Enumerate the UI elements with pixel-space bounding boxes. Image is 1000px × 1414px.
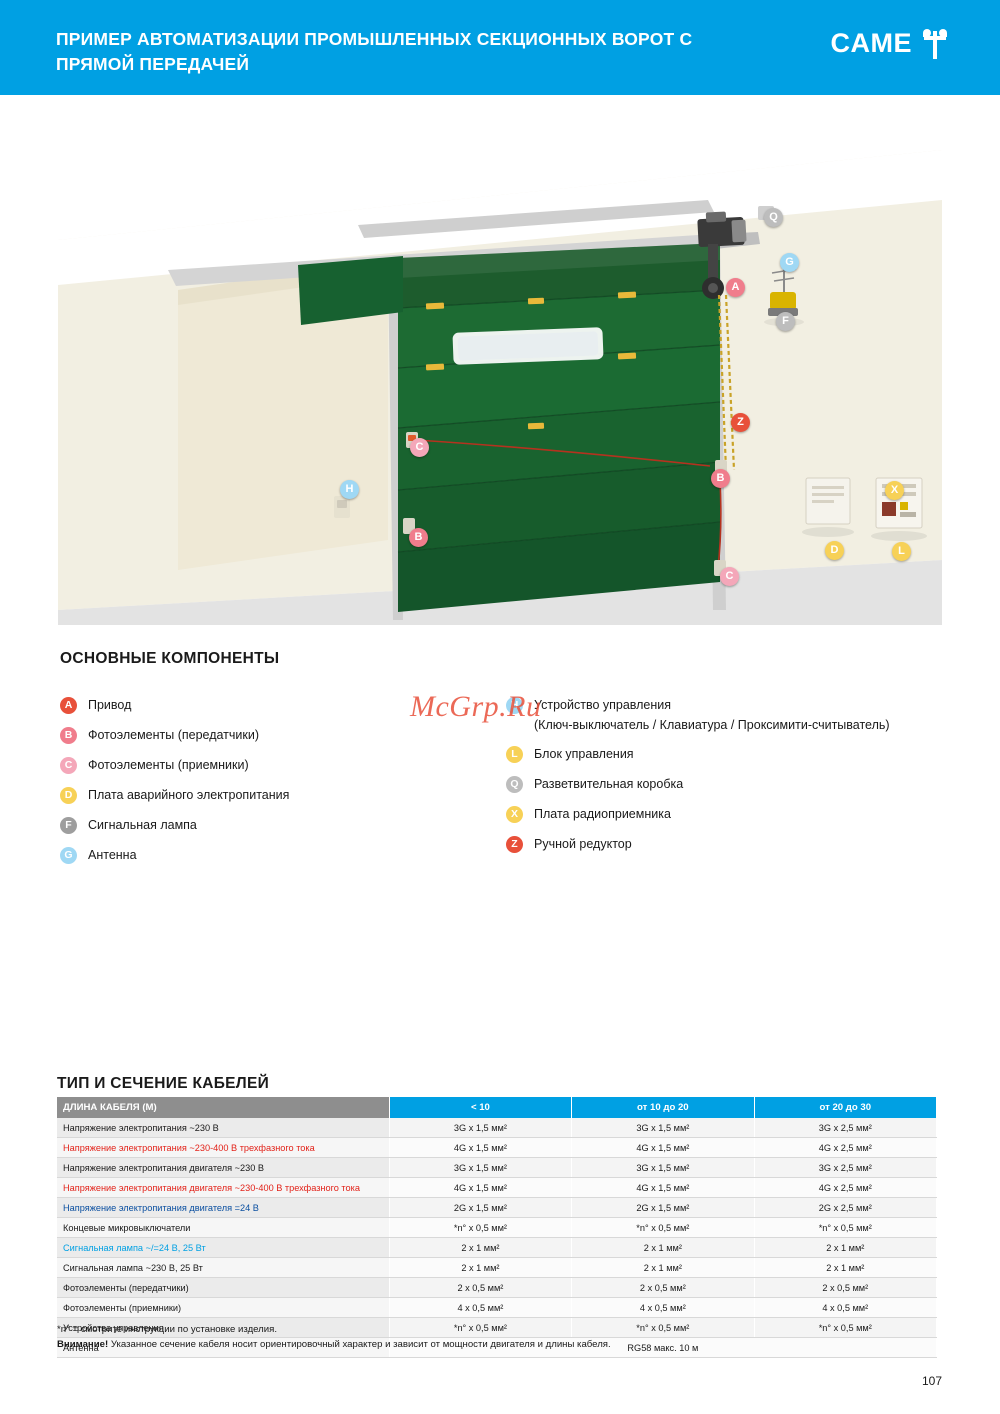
col-header-20-30: от 20 до 30 <box>754 1097 936 1118</box>
legend-badge-g: G <box>60 847 77 864</box>
illustration-marker-b2: B <box>409 528 428 547</box>
page-title: ПРИМЕР АВТОМАТИЗАЦИИ ПРОМЫШЛЕННЫХ СЕКЦИО… <box>56 27 756 77</box>
cables-title: ТИП И СЕЧЕНИЕ КАБЕЛЕЙ <box>57 1075 269 1093</box>
warning-label: Внимание! <box>57 1339 108 1350</box>
row-value: 3G x 2,5 мм² <box>754 1158 936 1178</box>
legend-badge-z: Z <box>506 836 523 853</box>
row-value: 4 x 0,5 мм² <box>389 1298 571 1318</box>
row-value: 2 x 0,5 мм² <box>754 1278 936 1298</box>
row-label: Напряжение электропитания двигателя ~230… <box>57 1158 389 1178</box>
row-label: Фотоэлементы (передатчики) <box>57 1278 389 1298</box>
table-row: Напряжение электропитания двигателя =24 … <box>57 1198 937 1218</box>
row-value: *n° x 0,5 мм² <box>389 1218 571 1238</box>
legend-item: X Плата радиоприемника <box>506 806 956 823</box>
row-label: Напряжение электропитания ~230-400 В тре… <box>57 1138 389 1158</box>
legend-label: Фотоэлементы (приемники) <box>88 757 490 773</box>
table-row: Напряжение электропитания ~230-400 В тре… <box>57 1138 937 1158</box>
row-value: 3G x 1,5 мм² <box>572 1118 754 1138</box>
row-value: 4G x 2,5 мм² <box>754 1178 936 1198</box>
table-header-row: ДЛИНА КАБЕЛЯ (м) < 10 от 10 до 20 от 20 … <box>57 1097 937 1118</box>
legend-badge-q: Q <box>506 776 523 793</box>
legend-label: Плата радиоприемника <box>534 806 956 822</box>
legend-label: Плата аварийного электропитания <box>88 787 490 803</box>
row-label: Напряжение электропитания ~230 В <box>57 1118 389 1138</box>
legend-item: D Плата аварийного электропитания <box>60 787 490 804</box>
table-row: Фотоэлементы (приемники) 4 x 0,5 мм² 4 x… <box>57 1298 937 1318</box>
illustration-marker-d: D <box>825 541 844 560</box>
illustration-marker-h: H <box>340 480 359 499</box>
table-note-warning: Внимание! Указанное сечение кабеля носит… <box>57 1337 937 1352</box>
legend-badge-f: F <box>60 817 77 834</box>
legend-item: G Антенна <box>60 847 490 864</box>
row-value: 2 x 1 мм² <box>754 1238 936 1258</box>
col-header-10-20: от 10 до 20 <box>572 1097 754 1118</box>
illustration-marker-f: F <box>776 312 795 331</box>
brand-logo: CAME <box>831 28 949 59</box>
row-value: 3G x 1,5 мм² <box>389 1118 571 1138</box>
illustration-marker-l: L <box>892 542 911 561</box>
illustration-svg <box>58 140 942 625</box>
table-row: Сигнальная лампа ~/=24 В, 25 Вт 2 x 1 мм… <box>57 1238 937 1258</box>
row-value: 2 x 1 мм² <box>572 1238 754 1258</box>
table-notes: *n° = смотрите инструкции по установке и… <box>57 1322 937 1352</box>
row-value: 3G x 1,5 мм² <box>389 1158 571 1178</box>
legend-badge-d: D <box>60 787 77 804</box>
table-row: Напряжение электропитания ~230 В 3G x 1,… <box>57 1118 937 1138</box>
table-row: Сигнальная лампа ~230 В, 25 Вт 2 x 1 мм²… <box>57 1258 937 1278</box>
table-row: Фотоэлементы (передатчики) 2 x 0,5 мм² 2… <box>57 1278 937 1298</box>
row-value: 2 x 1 мм² <box>754 1258 936 1278</box>
illustration-marker-x: X <box>885 481 904 500</box>
row-value: 2 x 0,5 мм² <box>572 1278 754 1298</box>
row-value: 3G x 1,5 мм² <box>572 1158 754 1178</box>
legend-item: B Фотоэлементы (передатчики) <box>60 727 490 744</box>
row-value: 2 x 0,5 мм² <box>389 1278 571 1298</box>
page-header: ПРИМЕР АВТОМАТИЗАЦИИ ПРОМЫШЛЕННЫХ СЕКЦИО… <box>0 0 1000 95</box>
legend-item: L Блок управления <box>506 746 956 763</box>
legend-badge-a: A <box>60 697 77 714</box>
row-label: Фотоэлементы (приемники) <box>57 1298 389 1318</box>
row-value: 2G x 2,5 мм² <box>754 1198 936 1218</box>
row-value: *n° x 0,5 мм² <box>754 1218 936 1238</box>
installation-illustration: Q G A F Z C B H X B D L C <box>58 140 942 625</box>
legend-badge-l: L <box>506 746 523 763</box>
row-value: 4G x 1,5 мм² <box>389 1138 571 1158</box>
legend-label: Разветвительная коробка <box>534 776 956 792</box>
illustration-marker-q: Q <box>764 208 783 227</box>
watermark: McGrp.Ru <box>410 690 541 724</box>
legend-item: Z Ручной редуктор <box>506 836 956 853</box>
row-value: 2G x 1,5 мм² <box>572 1198 754 1218</box>
row-value: 2 x 1 мм² <box>389 1258 571 1278</box>
row-label: Напряжение электропитания двигателя ~230… <box>57 1178 389 1198</box>
row-value: 4G x 1,5 мм² <box>389 1178 571 1198</box>
illustration-marker-c2: C <box>720 567 739 586</box>
illustration-marker-g: G <box>780 253 799 272</box>
row-value: 4G x 1,5 мм² <box>572 1178 754 1198</box>
col-header-lt10: < 10 <box>389 1097 571 1118</box>
legend-sublabel: (Ключ-выключатель / Клавиатура / Проксим… <box>534 717 956 733</box>
components-legend-right: H Устройство управления (Ключ-выключател… <box>506 697 956 866</box>
row-value: 4G x 1,5 мм² <box>572 1138 754 1158</box>
legend-badge-c: C <box>60 757 77 774</box>
col-header-length: ДЛИНА КАБЕЛЯ (м) <box>57 1097 389 1118</box>
row-value: *n° x 0,5 мм² <box>572 1218 754 1238</box>
warning-text: Указанное сечение кабеля носит ориентиро… <box>108 1339 611 1350</box>
legend-badge-b: B <box>60 727 77 744</box>
legend-badge-x: X <box>506 806 523 823</box>
illustration-marker-a: A <box>726 278 745 297</box>
table-note-asterisk: *n° = смотрите инструкции по установке и… <box>57 1322 937 1337</box>
row-value: 4G x 2,5 мм² <box>754 1138 936 1158</box>
row-value: 2 x 1 мм² <box>572 1258 754 1278</box>
row-value: 4 x 0,5 мм² <box>572 1298 754 1318</box>
legend-label: Сигнальная лампа <box>88 817 490 833</box>
components-title: ОСНОВНЫЕ КОМПОНЕНТЫ <box>60 650 279 668</box>
row-label: Концевые микровыключатели <box>57 1218 389 1238</box>
table-row: Концевые микровыключатели *n° x 0,5 мм² … <box>57 1218 937 1238</box>
row-value: 2 x 1 мм² <box>389 1238 571 1258</box>
cables-table: ДЛИНА КАБЕЛЯ (м) < 10 от 10 до 20 от 20 … <box>57 1097 937 1358</box>
row-label: Сигнальная лампа ~/=24 В, 25 Вт <box>57 1238 389 1258</box>
legend-label: Ручной редуктор <box>534 836 956 852</box>
illustration-marker-c1: C <box>410 438 429 457</box>
legend-item: H Устройство управления (Ключ-выключател… <box>506 697 956 733</box>
row-value: 3G x 2,5 мм² <box>754 1118 936 1138</box>
illustration-marker-z: Z <box>731 413 750 432</box>
row-value: 4 x 0,5 мм² <box>754 1298 936 1318</box>
legend-label: Блок управления <box>534 746 956 762</box>
legend-item: Q Разветвительная коробка <box>506 776 956 793</box>
components-legend-left: A Привод B Фотоэлементы (передатчики) C … <box>60 697 490 877</box>
came-mark-icon <box>922 29 948 59</box>
table-row: Напряжение электропитания двигателя ~230… <box>57 1178 937 1198</box>
legend-item: F Сигнальная лампа <box>60 817 490 834</box>
row-label: Напряжение электропитания двигателя =24 … <box>57 1198 389 1218</box>
row-value: 2G x 1,5 мм² <box>389 1198 571 1218</box>
brand-name: CAME <box>831 28 913 59</box>
illustration-marker-b1: B <box>711 469 730 488</box>
legend-label: Антенна <box>88 847 490 863</box>
legend-label: Фотоэлементы (передатчики) <box>88 727 490 743</box>
page-number: 107 <box>922 1374 942 1388</box>
cables-table-wrap: ДЛИНА КАБЕЛЯ (м) < 10 от 10 до 20 от 20 … <box>57 1097 937 1358</box>
legend-item: C Фотоэлементы (приемники) <box>60 757 490 774</box>
legend-label: Устройство управления <box>534 697 956 713</box>
table-row: Напряжение электропитания двигателя ~230… <box>57 1158 937 1178</box>
row-label: Сигнальная лампа ~230 В, 25 Вт <box>57 1258 389 1278</box>
